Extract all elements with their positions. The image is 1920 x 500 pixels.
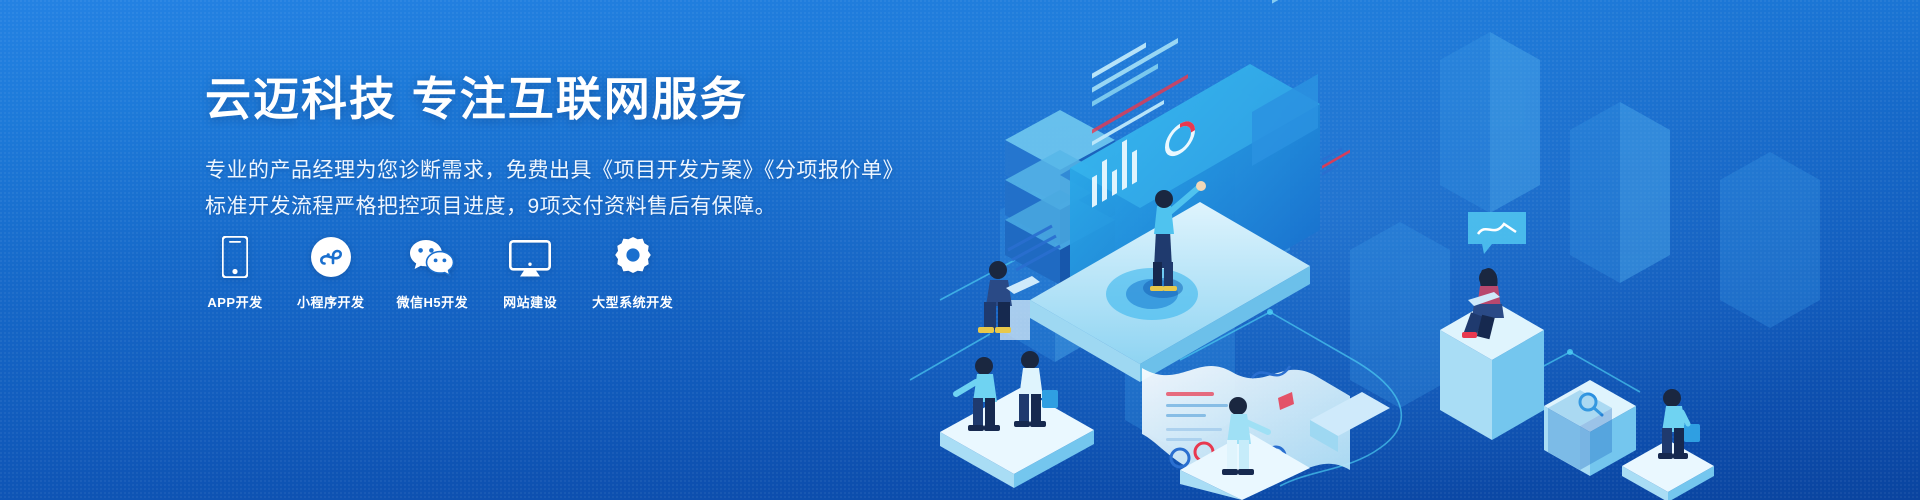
wechat-icon [409, 232, 455, 278]
service-item-large-system[interactable]: 大型系统开发 [592, 232, 673, 311]
service-label: 小程序开发 [297, 292, 365, 311]
banner-subtitle: 专业的产品经理为您诊断需求，免费出具《项目开发方案》《分项报价单》 标准开发流程… [205, 153, 905, 225]
mini-program-icon [310, 232, 352, 278]
service-label: 微信H5开发 [397, 292, 469, 311]
service-item-website[interactable]: 网站建设 [500, 232, 560, 311]
service-list: APP开发 小程序开发 [205, 232, 673, 311]
gear-icon [612, 232, 654, 278]
mobile-phone-icon [222, 232, 248, 278]
banner-copy: 云迈科技 专注互联网服务 专业的产品经理为您诊断需求，免费出具《项目开发方案》《… [205, 72, 905, 225]
service-item-mini-program[interactable]: 小程序开发 [297, 232, 365, 311]
service-label: 网站建设 [503, 292, 557, 311]
service-item-wechat-h5[interactable]: 微信H5开发 [397, 232, 469, 311]
isometric-illustration [880, 0, 1920, 500]
page-title: 云迈科技 专注互联网服务 [205, 72, 905, 127]
subtitle-line-2: 标准开发流程严格把控项目进度，9项交付资料售后有保障。 [205, 189, 905, 225]
subtitle-line-1: 专业的产品经理为您诊断需求，免费出具《项目开发方案》《分项报价单》 [205, 153, 905, 189]
promo-banner: 云迈科技 专注互联网服务 专业的产品经理为您诊断需求，免费出具《项目开发方案》《… [0, 0, 1920, 500]
monitor-icon [509, 232, 551, 278]
service-label: APP开发 [207, 292, 262, 311]
service-item-app[interactable]: APP开发 [205, 232, 265, 311]
service-label: 大型系统开发 [592, 292, 673, 311]
